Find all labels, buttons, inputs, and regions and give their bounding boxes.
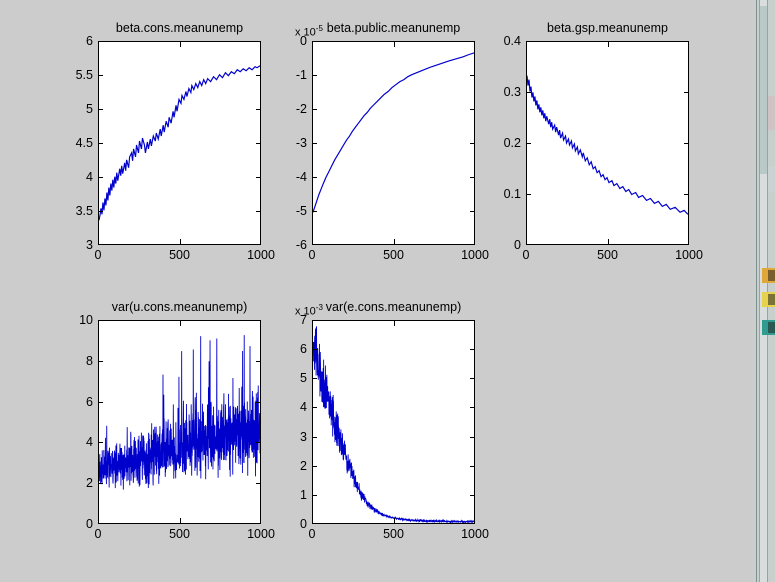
ytick-label: 6 xyxy=(86,395,93,409)
trace-line-noisy xyxy=(313,321,474,523)
ytick-mark xyxy=(526,92,531,93)
trace-line-noisy xyxy=(99,321,260,523)
ytick-mark xyxy=(98,109,103,110)
xtick-label: 0 xyxy=(95,248,102,262)
ytick-mark xyxy=(312,495,317,496)
ytick-mark xyxy=(526,143,531,144)
axes-var-e-cons-meanunemp[interactable]: var(e.cons.meanunemp) x 10-3 7 6 5 4 3 2… xyxy=(312,320,475,524)
ytick-label: 2 xyxy=(86,476,93,490)
ytick-mark xyxy=(256,442,261,443)
ytick-mark xyxy=(312,407,317,408)
scrollbar-thumb[interactable] xyxy=(760,6,767,174)
ytick-mark xyxy=(312,75,317,76)
chip-teal-icon[interactable] xyxy=(762,320,775,335)
ytick-label: 0.1 xyxy=(504,187,521,201)
trace-line xyxy=(527,42,688,244)
ytick-mark xyxy=(98,211,103,212)
ytick-label: 4 xyxy=(300,400,307,414)
xtick-mark xyxy=(180,518,181,523)
ytick-mark xyxy=(684,92,689,93)
ytick-mark xyxy=(312,466,317,467)
ytick-mark xyxy=(526,194,531,195)
ytick-label: 0 xyxy=(86,517,93,531)
matlab-figure-window: beta.cons.meanunemp 6 5.5 5 4.5 4 3.5 3 … xyxy=(0,0,775,582)
axis-exponent-power: -3 xyxy=(316,303,323,312)
xtick-mark xyxy=(180,321,181,326)
axes-title: var(e.cons.meanunemp) xyxy=(326,300,461,314)
ytick-label: 5 xyxy=(300,371,307,385)
xtick-label: 500 xyxy=(597,248,618,262)
ytick-mark xyxy=(256,75,261,76)
ytick-mark xyxy=(470,407,475,408)
ytick-label: -4 xyxy=(296,170,307,184)
xtick-mark xyxy=(180,42,181,47)
axes-frame xyxy=(312,320,475,524)
xtick-label: 1000 xyxy=(247,248,275,262)
ytick-mark xyxy=(312,349,317,350)
ytick-mark xyxy=(98,361,103,362)
ytick-mark xyxy=(256,109,261,110)
xtick-label: 500 xyxy=(169,248,190,262)
ytick-mark xyxy=(256,361,261,362)
ytick-label: 3 xyxy=(300,430,307,444)
ytick-mark xyxy=(98,177,103,178)
strip-divider xyxy=(756,0,757,582)
xtick-label: 500 xyxy=(169,527,190,541)
ytick-mark xyxy=(256,402,261,403)
xtick-label: 500 xyxy=(383,527,404,541)
ytick-label: 10 xyxy=(79,313,93,327)
chip-yellow-icon[interactable] xyxy=(762,292,775,307)
axes-var-u-cons-meanunemp[interactable]: var(u.cons.meanunemp) 10 8 6 4 2 0 0 500… xyxy=(98,320,261,524)
xtick-label: 500 xyxy=(383,248,404,262)
ytick-mark xyxy=(256,177,261,178)
xtick-label: 0 xyxy=(309,248,316,262)
axes-title: beta.cons.meanunemp xyxy=(116,21,243,35)
axes-title: beta.public.meanunemp xyxy=(327,21,460,35)
ytick-label: 7 xyxy=(300,313,307,327)
ytick-mark xyxy=(470,143,475,144)
ytick-mark xyxy=(684,143,689,144)
ytick-label: 0.3 xyxy=(504,85,521,99)
axes-title: beta.gsp.meanunemp xyxy=(547,21,668,35)
ytick-mark xyxy=(312,211,317,212)
ytick-label: 3.5 xyxy=(76,204,93,218)
ytick-mark xyxy=(470,109,475,110)
ytick-mark xyxy=(312,177,317,178)
xtick-mark xyxy=(394,239,395,244)
axes-title: var(u.cons.meanunemp) xyxy=(112,300,247,314)
xtick-mark xyxy=(394,518,395,523)
ytick-label: -5 xyxy=(296,204,307,218)
xtick-label: 1000 xyxy=(461,527,489,541)
ytick-mark xyxy=(256,143,261,144)
ytick-label: 0 xyxy=(514,238,521,252)
axes-frame xyxy=(526,41,689,245)
ytick-label: 6 xyxy=(86,34,93,48)
xtick-label: 0 xyxy=(95,527,102,541)
ytick-mark xyxy=(470,495,475,496)
ytick-label: 5.5 xyxy=(76,68,93,82)
axes-beta-public-meanunemp[interactable]: beta.public.meanunemp x 10-5 0 -1 -2 -3 … xyxy=(312,41,475,245)
ytick-label: -6 xyxy=(296,238,307,252)
ytick-mark xyxy=(98,75,103,76)
vertical-scrollbar[interactable] xyxy=(759,0,768,582)
trace-line xyxy=(99,42,260,244)
ytick-label: 4 xyxy=(86,170,93,184)
axes-beta-cons-meanunemp[interactable]: beta.cons.meanunemp 6 5.5 5 4.5 4 3.5 3 … xyxy=(98,41,261,245)
ytick-mark xyxy=(256,211,261,212)
axes-frame xyxy=(98,41,261,245)
ytick-mark xyxy=(312,437,317,438)
chip-glyph xyxy=(768,270,775,281)
background-app-strip xyxy=(753,0,775,582)
trace-line xyxy=(313,42,474,244)
ytick-mark xyxy=(470,75,475,76)
ytick-label: 1 xyxy=(300,488,307,502)
ytick-mark xyxy=(98,483,103,484)
chip-orange-icon[interactable] xyxy=(762,268,775,283)
ytick-label: -1 xyxy=(296,68,307,82)
xtick-label: 1000 xyxy=(675,248,703,262)
axes-beta-gsp-meanunemp[interactable]: beta.gsp.meanunemp 0.4 0.3 0.2 0.1 0 0 5… xyxy=(526,41,689,245)
ytick-mark xyxy=(470,211,475,212)
ytick-mark xyxy=(470,349,475,350)
axis-exponent-power: -5 xyxy=(316,24,323,33)
xtick-mark xyxy=(394,42,395,47)
axes-frame xyxy=(98,320,261,524)
ytick-mark xyxy=(256,483,261,484)
ytick-label: 0.2 xyxy=(504,136,521,150)
xtick-label: 0 xyxy=(523,248,530,262)
ytick-label: -2 xyxy=(296,102,307,116)
ytick-mark xyxy=(470,177,475,178)
ytick-mark xyxy=(98,143,103,144)
ytick-label: 3 xyxy=(86,238,93,252)
ytick-label: 5 xyxy=(86,102,93,116)
ytick-label: 4 xyxy=(86,435,93,449)
ytick-label: -3 xyxy=(296,136,307,150)
ytick-mark xyxy=(470,466,475,467)
ytick-label: 4.5 xyxy=(76,136,93,150)
xtick-label: 1000 xyxy=(461,248,489,262)
xtick-mark xyxy=(608,239,609,244)
ytick-label: 6 xyxy=(300,342,307,356)
axes-frame xyxy=(312,41,475,245)
xtick-mark xyxy=(394,321,395,326)
xtick-mark xyxy=(608,42,609,47)
ytick-mark xyxy=(98,402,103,403)
ytick-mark xyxy=(98,442,103,443)
xtick-mark xyxy=(180,239,181,244)
ytick-mark xyxy=(684,194,689,195)
ytick-mark xyxy=(312,143,317,144)
ytick-mark xyxy=(312,109,317,110)
ytick-mark xyxy=(470,437,475,438)
chip-glyph xyxy=(768,322,775,333)
ytick-mark xyxy=(470,378,475,379)
ytick-label: 0 xyxy=(300,34,307,48)
ytick-label: 0 xyxy=(300,517,307,531)
ytick-label: 2 xyxy=(300,459,307,473)
ytick-label: 8 xyxy=(86,354,93,368)
chip-glyph xyxy=(768,294,775,305)
xtick-label: 0 xyxy=(309,527,316,541)
ytick-label: 0.4 xyxy=(504,34,521,48)
xtick-label: 1000 xyxy=(247,527,275,541)
ytick-mark xyxy=(312,378,317,379)
